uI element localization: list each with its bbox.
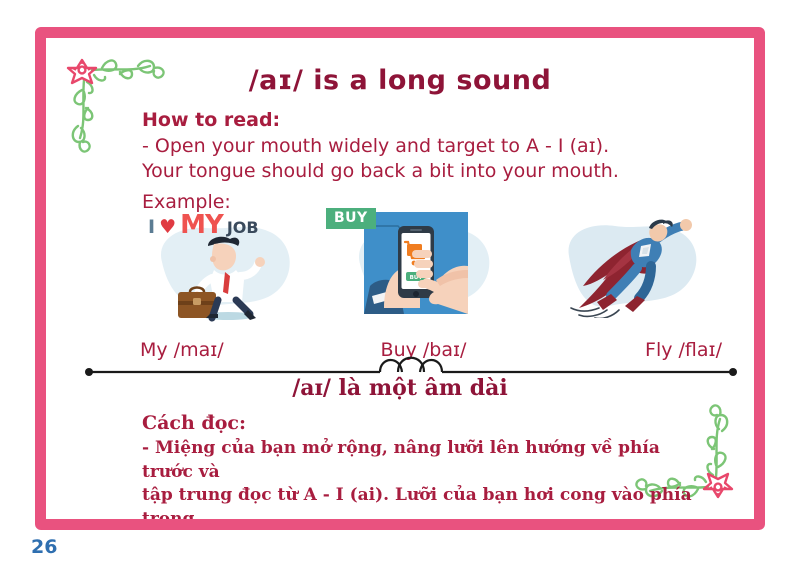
english-instructions: How to read: - Open your mouth widely an… xyxy=(142,108,712,215)
examples-row: I ♥ MY JOB xyxy=(126,206,726,341)
worksheet-page: /aɪ/ is a long sound How to read: - Open… xyxy=(0,0,800,566)
superhero-flying-icon xyxy=(555,212,700,318)
businessman-walking-icon xyxy=(156,232,286,322)
english-instruction-line-1: - Open your mouth widely and target to A… xyxy=(142,134,712,159)
vietnamese-instruction-line-2: tập trung đọc từ A - I (ai). Lưỡi của bạ… xyxy=(142,484,714,519)
page-number: 26 xyxy=(31,536,57,558)
trefoil-arches-icon xyxy=(84,353,738,377)
vietnamese-instruction-line-1: - Miệng của bạn mở rộng, nâng lưỡi lên h… xyxy=(142,437,714,484)
section-divider xyxy=(84,353,738,377)
card-content-area: /aɪ/ is a long sound How to read: - Open… xyxy=(46,38,754,519)
vietnamese-instructions: Cách đọc: - Miệng của bạn mở rộng, nâng … xyxy=(142,410,714,519)
cach-doc-label: Cách đọc: xyxy=(142,410,714,436)
online-shopping-illustration: BUY xyxy=(364,212,468,314)
worksheet-card: /aɪ/ is a long sound How to read: - Open… xyxy=(35,27,765,530)
badge-i: I xyxy=(148,216,155,238)
example-card-buy: BUY xyxy=(326,206,521,341)
how-to-read-label: How to read: xyxy=(142,108,712,133)
example-card-fly xyxy=(531,206,726,341)
buy-tag-badge: BUY xyxy=(326,208,376,229)
vietnamese-title: /aɪ/ là một âm dài xyxy=(46,375,754,401)
english-instruction-line-2: Your tongue should go back a bit into yo… xyxy=(142,159,712,184)
example-card-my: I ♥ MY JOB xyxy=(126,206,321,341)
english-title: /aɪ/ is a long sound xyxy=(46,65,754,96)
hands-holding-phone-icon: BUY xyxy=(364,212,468,314)
